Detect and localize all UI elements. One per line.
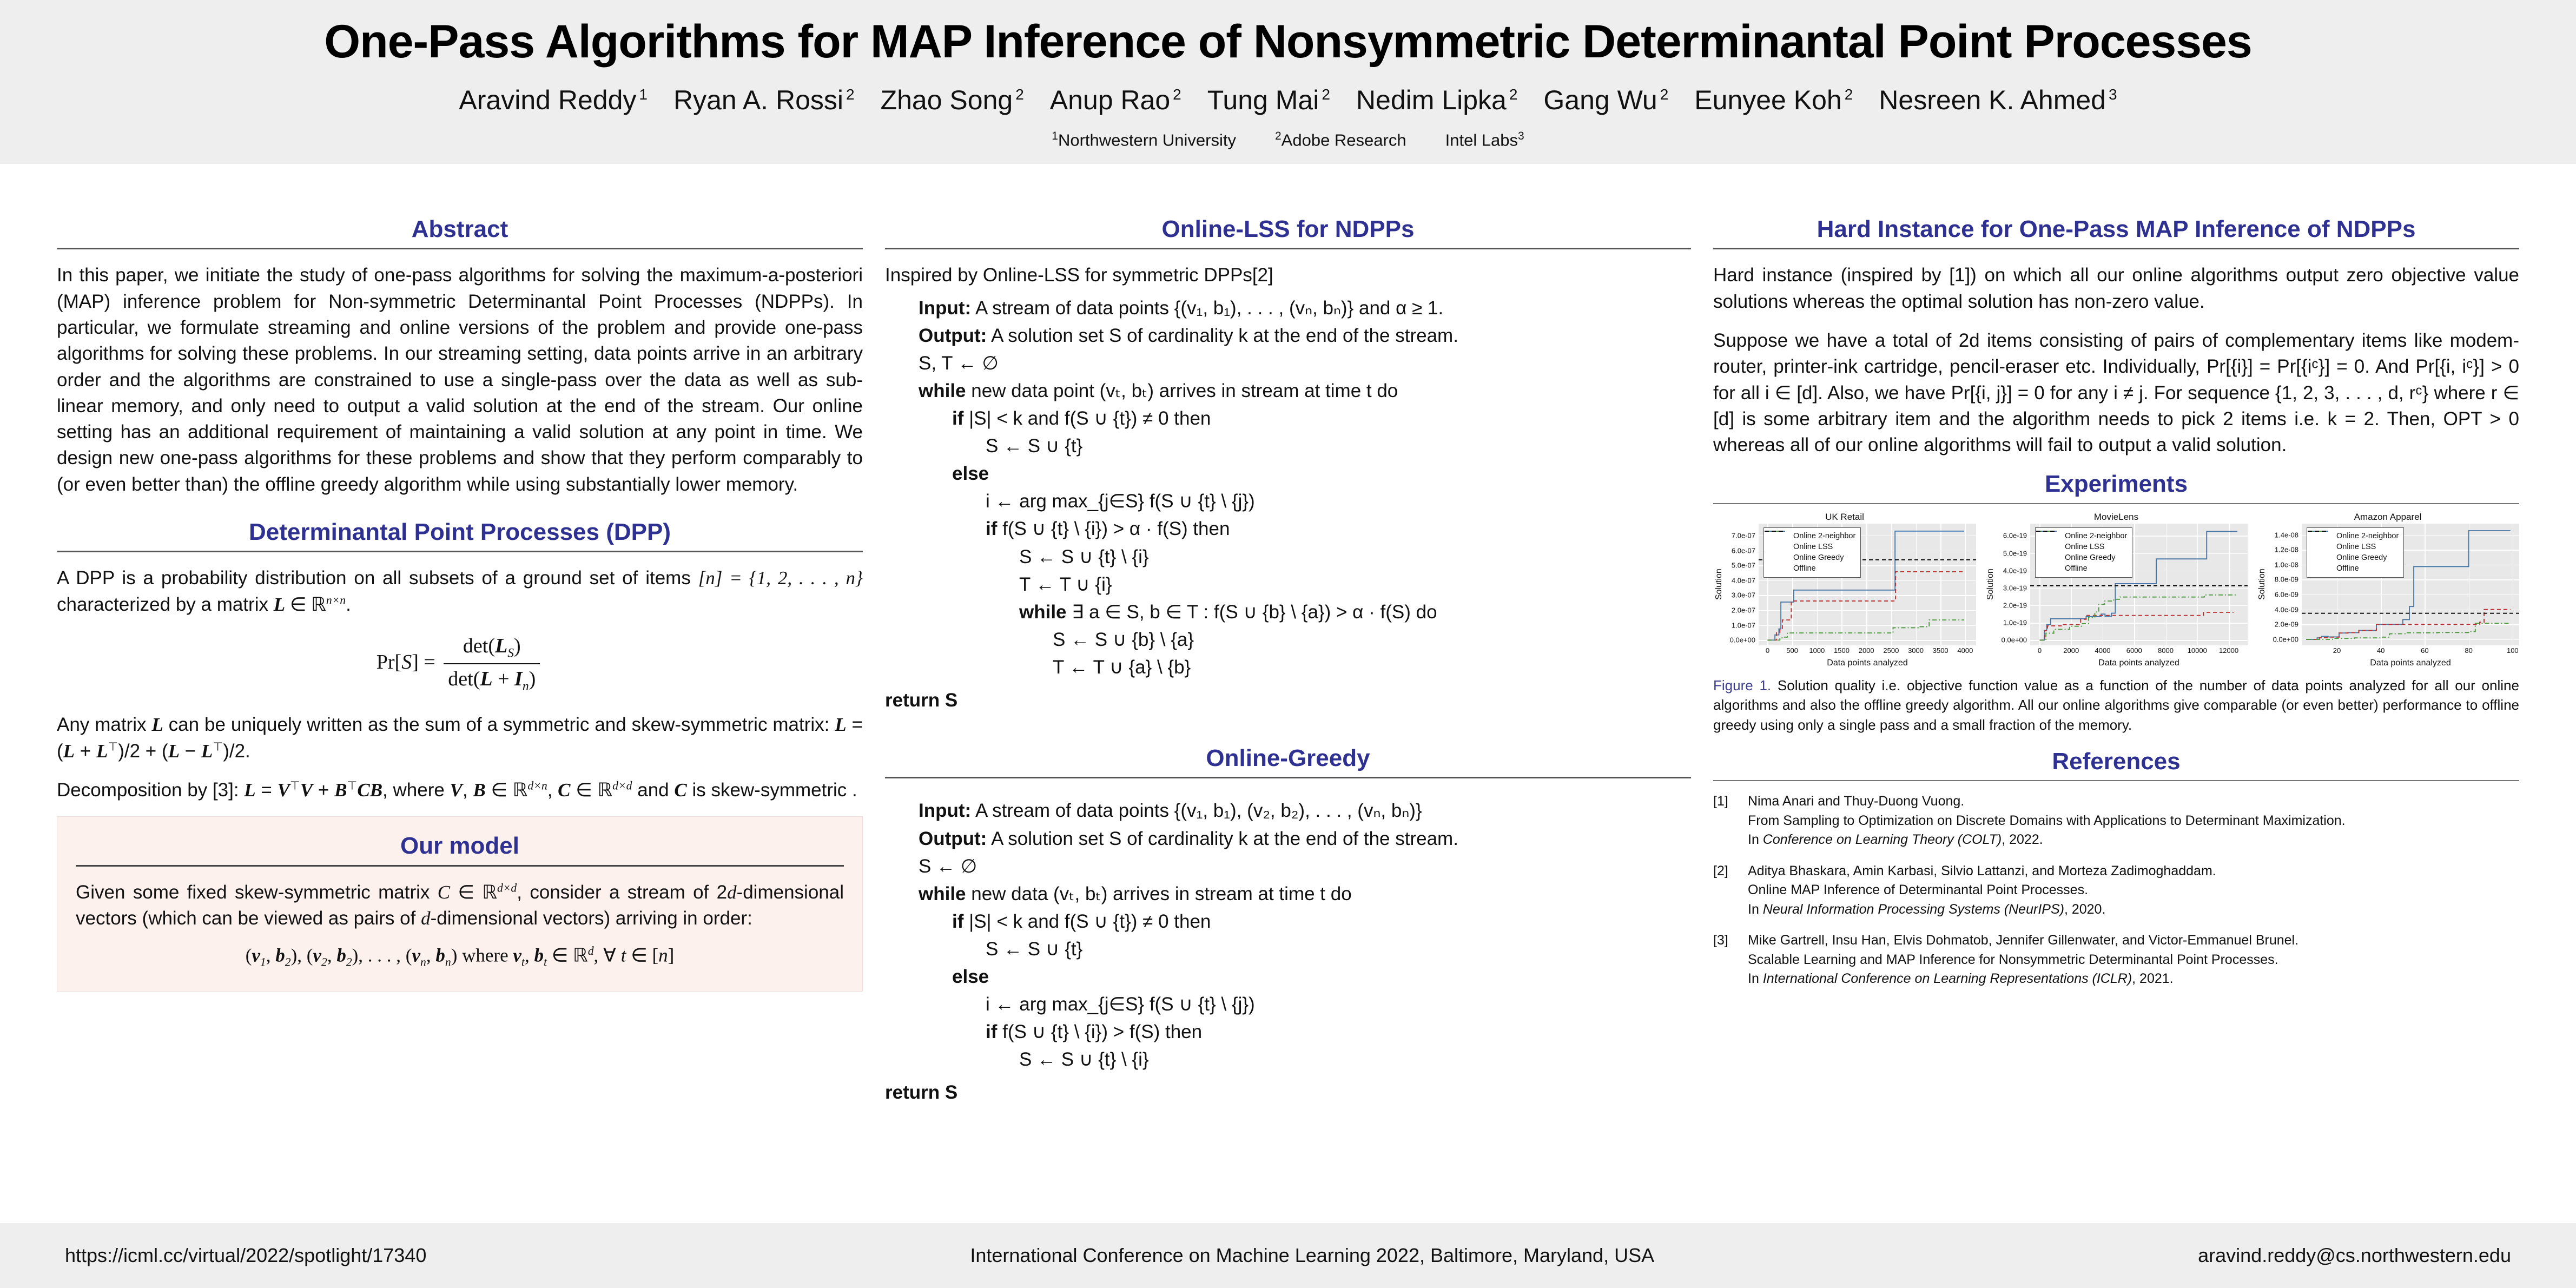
divider <box>1713 248 2519 249</box>
footer-url[interactable]: https://icml.cc/virtual/2022/spotlight/1… <box>65 1244 426 1267</box>
chart-y-tick-label: 4.0e-19 <box>2003 566 2027 574</box>
chart-x-tick-label: 2000 <box>2063 646 2079 655</box>
chart-plot-area: Solution0.0e+001.0e-192.0e-193.0e-194.0e… <box>1985 524 2248 645</box>
chart-y-tick-label: 0.0e+00 <box>2273 635 2298 643</box>
reference-text: Mike Gartrell, Insu Han, Elvis Dohmatob,… <box>1748 931 2519 989</box>
algo-line-10: S ← S ∪ {t} \ {i} <box>885 543 1691 571</box>
chart-x-tick-label: 0 <box>2038 646 2042 655</box>
affiliation-list: 1Northwestern University2Adobe ResearchI… <box>0 130 2576 150</box>
legend-swatch <box>2039 565 2061 572</box>
chart-x-tick-label: 500 <box>1786 646 1798 655</box>
chart-x-axis-label: Data points analyzed <box>1759 658 1976 668</box>
online-greedy-pseudocode: Input: A stream of data points {(v₁, b₁)… <box>885 797 1691 1073</box>
chart-y-tick-label: 4.0e-07 <box>1732 576 1755 584</box>
algo-line-3: S ← ∅ <box>885 853 1691 880</box>
chart-y-tick-label: 1.4e-08 <box>2275 531 2298 539</box>
chart-title: MovieLens <box>1985 512 2248 523</box>
algo-keyword: Input: <box>919 298 971 319</box>
chart-y-tick-label: 3.0e-19 <box>2003 584 2027 592</box>
section-dpp: Determinantal Point Processes (DPP) A DP… <box>57 519 863 803</box>
online-lss-return: return S <box>885 686 1691 714</box>
chart-y-ticks: 0.0e+001.0e-072.0e-073.0e-074.0e-075.0e-… <box>1725 524 1759 645</box>
algo-statement: S, T ← ∅ <box>919 353 999 374</box>
algo-line-9: if f(S ∪ {t} \ {i}) > α · f(S) then <box>885 515 1691 543</box>
figure-caption-text: Solution quality i.e. objective function… <box>1713 677 2519 733</box>
chart-y-tick-label: 4.0e-09 <box>2275 605 2298 613</box>
chart-series-line <box>2039 595 2237 640</box>
chart-x-tick-label: 60 <box>2421 646 2428 655</box>
reference-title: From Sampling to Optimization on Discret… <box>1748 811 2519 831</box>
chart-y-tick-label: 1.2e-08 <box>2275 546 2298 554</box>
abstract-text: In this paper, we initiate the study of … <box>57 262 863 498</box>
chart-x-ticks: 20406080100 <box>2302 645 2519 658</box>
chart-y-tick-label: 7.0e-07 <box>1732 531 1755 539</box>
online-greedy-return-label: return S <box>885 1082 957 1103</box>
chart-x-axis-label: Data points analyzed <box>2302 658 2519 668</box>
chart-y-tick-label: 6.0e-07 <box>1732 546 1755 554</box>
dpp-formula: Pr[S] = det(LS) det(L + In) <box>57 634 863 693</box>
chart-y-axis-label: Solution <box>1985 524 1997 645</box>
algo-line-11: T ← T ∪ {i} <box>885 571 1691 598</box>
section-references: References [1]Nima Anari and Thuy-Duong … <box>1713 749 2519 989</box>
algo-statement: new data point (vₜ, bₜ) arrives in strea… <box>966 380 1398 401</box>
section-online-greedy: Online-Greedy Input: A stream of data po… <box>885 745 1691 1106</box>
dpp-fraction: det(LS) det(L + In) <box>444 634 540 693</box>
reference-title: Scalable Learning and MAP Inference for … <box>1748 950 2519 970</box>
affiliation-3: Intel Labs3 <box>1445 130 1524 150</box>
reference-venue-line: In International Conference on Learning … <box>1748 969 2519 989</box>
chart-title: UK Retail <box>1713 512 1976 523</box>
algo-keyword: if <box>952 911 963 932</box>
reference-venue-line: In Conference on Learning Theory (COLT),… <box>1748 830 2519 850</box>
reference-venue-suffix: , 2022. <box>2002 832 2043 847</box>
reference-item: [3]Mike Gartrell, Insu Han, Elvis Dohmat… <box>1713 931 2519 989</box>
chart-x-tick-label: 100 <box>2507 646 2519 655</box>
model-heading: Our model <box>76 833 844 859</box>
chart-x-tick-label: 20 <box>2333 646 2341 655</box>
section-our-model: Our model Given some fixed skew-symmetri… <box>57 816 863 992</box>
hard-instance-heading: Hard Instance for One-Pass MAP Inference… <box>1713 216 2519 242</box>
chart-y-tick-label: 5.0e-07 <box>1732 562 1755 570</box>
chart-y-axis-label: Solution <box>2256 524 2268 645</box>
experiments-charts: UK RetailSolution0.0e+001.0e-072.0e-073.… <box>1713 512 2519 668</box>
online-lss-return-label: return S <box>885 690 957 711</box>
poster-footer: https://icml.cc/virtual/2022/spotlight/1… <box>0 1223 2576 1288</box>
reference-venue-prefix: In <box>1748 971 1763 986</box>
algo-keyword: Output: <box>919 828 987 849</box>
legend-item: Offline <box>2311 563 2399 574</box>
reference-venue-line: In Neural Information Processing Systems… <box>1748 900 2519 920</box>
reference-venue-prefix: In <box>1748 902 1763 917</box>
author-name: Nesreen K. Ahmed <box>1879 85 2106 115</box>
online-greedy-return: return S <box>885 1079 1691 1106</box>
divider <box>885 248 1691 249</box>
dpp-denominator: det(L + In) <box>444 664 540 694</box>
chart-x-ticks: 020004000600080001000012000 <box>2030 645 2248 658</box>
algo-statement: S ← S ∪ {t} <box>986 939 1082 960</box>
algo-line-13: S ← S ∪ {b} \ {a} <box>885 626 1691 653</box>
algo-keyword: if <box>952 408 963 429</box>
chart-series-line <box>1767 620 1964 640</box>
affiliation-1: 1Northwestern University <box>1052 130 1236 150</box>
reference-item: [2]Aditya Bhaskara, Amin Karbasi, Silvio… <box>1713 862 2519 920</box>
online-lss-pseudocode: Input: A stream of data points {(v₁, b₁)… <box>885 294 1691 681</box>
algo-statement: S ← ∅ <box>919 856 977 877</box>
algo-statement: f(S ∪ {t} \ {i}) > α · f(S) then <box>997 518 1230 539</box>
algo-keyword: Output: <box>919 325 987 346</box>
reference-venue: Neural Information Processing Systems (N… <box>1763 902 2064 917</box>
dpp-ground-set: [n] = {1, 2, . . . , n} <box>698 567 863 589</box>
chart-x-tick-label: 3500 <box>1933 646 1948 655</box>
author-list: Aravind Reddy1Ryan A. Rossi2Zhao Song2An… <box>0 84 2576 116</box>
chart-y-tick-label: 1.0e-07 <box>1732 621 1755 629</box>
reference-number: [2] <box>1713 862 1736 920</box>
author-affiliation-mark: 2 <box>1660 86 1669 103</box>
algo-statement: T ← T ∪ {a} \ {b} <box>1053 657 1191 678</box>
algo-statement: S ← S ∪ {t} \ {i} <box>1019 1049 1149 1070</box>
algo-keyword: while <box>919 883 966 904</box>
chart-y-axis-label: Solution <box>1713 524 1725 645</box>
dpp-para1-a: A DPP is a probability distribution on a… <box>57 567 691 589</box>
author-name: Gang Wu <box>1543 85 1657 115</box>
affiliation-mark: 1 <box>1052 130 1058 142</box>
chart-x-tick-label: 4000 <box>2095 646 2111 655</box>
online-lss-heading: Online-LSS for NDPPs <box>885 216 1691 242</box>
divider <box>57 248 863 249</box>
chart-y-tick-label: 8.0e-09 <box>2275 576 2298 584</box>
author-2: Ryan A. Rossi2 <box>673 84 855 116</box>
algo-line-8: i ← arg max_{j∈S} f(S ∪ {t} \ {j}) <box>885 990 1691 1018</box>
algo-line-7: else <box>885 963 1691 990</box>
author-affiliation-mark: 2 <box>1322 86 1330 103</box>
reference-authors: Mike Gartrell, Insu Han, Elvis Dohmatob,… <box>1748 931 2519 950</box>
author-5: Tung Mai2 <box>1207 84 1330 116</box>
legend-item: Offline <box>2039 563 2127 574</box>
chart-legend: Online 2-neighborOnline LSSOnline Greedy… <box>2307 527 2404 578</box>
chart-y-tick-label: 6.0e-09 <box>2275 590 2298 598</box>
algo-statement: f(S ∪ {t} \ {i}) > f(S) then <box>997 1021 1202 1042</box>
hard-instance-paragraph-2: Suppose we have a total of 2d items cons… <box>1713 328 2519 458</box>
poster-root: One-Pass Algorithms for MAP Inference of… <box>0 0 2576 1288</box>
dpp-para1-b: characterized by a matrix <box>57 594 274 615</box>
algo-line-6: S ← S ∪ {t} <box>885 935 1691 963</box>
reference-venue-suffix: , 2020. <box>2064 902 2105 917</box>
chart-x-tick-label: 10000 <box>2188 646 2207 655</box>
chart-y-tick-label: 3.0e-07 <box>1732 591 1755 599</box>
chart-plot-area: Solution0.0e+001.0e-072.0e-073.0e-074.0e… <box>1713 524 1976 645</box>
algo-keyword: if <box>986 1021 997 1042</box>
dpp-paragraph-1: A DPP is a probability distribution on a… <box>57 565 863 618</box>
algo-line-8: i ← arg max_{j∈S} f(S ∪ {t} \ {j}) <box>885 487 1691 515</box>
reference-authors: Nima Anari and Thuy-Duong Vuong. <box>1748 792 2519 811</box>
algo-line-10: S ← S ∪ {t} \ {i} <box>885 1046 1691 1073</box>
chart-y-tick-label: 2.0e-07 <box>1732 606 1755 614</box>
chart-y-tick-label: 5.0e-19 <box>2003 549 2027 557</box>
chart-x-tick-label: 1000 <box>1809 646 1825 655</box>
reference-title: Online MAP Inference of Determinantal Po… <box>1748 881 2519 900</box>
author-affiliation-mark: 2 <box>1845 86 1853 103</box>
dpp-paragraph-3: Decomposition by [3]: L = V⊤V + B⊤CB, wh… <box>57 777 863 803</box>
author-name: Eunyee Koh <box>1694 85 1841 115</box>
algo-statement: T ← T ∪ {i} <box>1019 574 1112 595</box>
reference-authors: Aditya Bhaskara, Amin Karbasi, Silvio La… <box>1748 862 2519 881</box>
model-paragraph: Given some fixed skew-symmetric matrix C… <box>76 880 844 932</box>
chart-x-tick-label: 40 <box>2377 646 2385 655</box>
chart-series-line <box>2039 612 2233 640</box>
chart-2: MovieLensSolution0.0e+001.0e-192.0e-193.… <box>1985 512 2248 668</box>
column-right: Hard Instance for One-Pass MAP Inference… <box>1713 216 2519 1107</box>
affiliation-name: Intel Labs <box>1445 130 1518 149</box>
author-name: Nedim Lipka <box>1356 85 1507 115</box>
chart-x-tick-label: 3000 <box>1908 646 1924 655</box>
chart-x-axis-label: Data points analyzed <box>2030 658 2248 668</box>
algo-statement: A solution set S of cardinality k at the… <box>987 325 1458 346</box>
chart-plot-area: Solution0.0e+002.0e-094.0e-096.0e-098.0e… <box>2256 524 2519 645</box>
author-4: Anup Rao2 <box>1050 84 1181 116</box>
chart-canvas: Online 2-neighborOnline LSSOnline Greedy… <box>2302 524 2519 645</box>
chart-y-tick-label: 0.0e+00 <box>2002 636 2027 644</box>
chart-x-tick-label: 1500 <box>1834 646 1850 655</box>
affiliation-name: Northwestern University <box>1058 130 1236 149</box>
affiliation-mark: 2 <box>1275 130 1282 142</box>
chart-canvas: Online 2-neighborOnline LSSOnline Greedy… <box>1759 524 1976 645</box>
chart-canvas: Online 2-neighborOnline LSSOnline Greedy… <box>2030 524 2248 645</box>
chart-y-tick-label: 1.0e-08 <box>2275 560 2298 569</box>
chart-y-tick-label: 6.0e-19 <box>2003 532 2027 540</box>
author-9: Nesreen K. Ahmed3 <box>1879 84 2117 116</box>
section-experiments: Experiments UK RetailSolution0.0e+001.0e… <box>1713 471 2519 735</box>
algo-line-5: if |S| < k and f(S ∪ {t}) ≠ 0 then <box>885 405 1691 432</box>
column-left: Abstract In this paper, we initiate the … <box>57 216 863 1107</box>
dpp-heading: Determinantal Point Processes (DPP) <box>57 519 863 545</box>
algo-statement: |S| < k and f(S ∪ {t}) ≠ 0 then <box>963 408 1211 429</box>
poster-header: One-Pass Algorithms for MAP Inference of… <box>0 0 2576 164</box>
figure-caption: Figure 1. Solution quality i.e. objectiv… <box>1713 676 2519 735</box>
algo-statement: S ← S ∪ {t} <box>986 435 1082 457</box>
author-name: Aravind Reddy <box>459 85 636 115</box>
chart-x-ticks: 05001000150020002500300035004000 <box>1759 645 1976 658</box>
algo-statement: i ← arg max_{j∈S} f(S ∪ {t} \ {j}) <box>986 491 1255 512</box>
experiments-heading: Experiments <box>1713 471 2519 497</box>
algo-line-14: T ← T ∪ {a} \ {b} <box>885 653 1691 681</box>
chart-y-tick-label: 0.0e+00 <box>1730 636 1755 644</box>
affiliation-mark: 3 <box>1518 130 1524 142</box>
reference-venue-prefix: In <box>1748 832 1763 847</box>
algo-line-9: if f(S ∪ {t} \ {i}) > f(S) then <box>885 1018 1691 1046</box>
footer-email[interactable]: aravind.reddy@cs.northwestern.edu <box>2198 1244 2511 1267</box>
reference-text: Aditya Bhaskara, Amin Karbasi, Silvio La… <box>1748 862 2519 920</box>
algo-keyword: if <box>986 518 997 539</box>
author-name: Ryan A. Rossi <box>673 85 843 115</box>
algo-statement: S ← S ∪ {b} \ {a} <box>1053 629 1194 650</box>
algo-keyword: while <box>1019 602 1067 623</box>
chart-series-line <box>2306 610 2511 639</box>
author-name: Anup Rao <box>1050 85 1170 115</box>
reference-venue: International Conference on Learning Rep… <box>1763 971 2132 986</box>
footer-conference: International Conference on Machine Lear… <box>970 1244 1654 1267</box>
algo-statement: new data (vₜ, bₜ) arrives in stream at t… <box>966 883 1352 904</box>
legend-item: Offline <box>1768 563 1855 574</box>
algo-line-5: if |S| < k and f(S ∪ {t}) ≠ 0 then <box>885 908 1691 935</box>
algo-statement: i ← arg max_{j∈S} f(S ∪ {t} \ {j}) <box>986 994 1255 1015</box>
author-affiliation-mark: 3 <box>2109 86 2117 103</box>
author-affiliation-mark: 2 <box>1509 86 1518 103</box>
divider <box>57 551 863 552</box>
algo-line-1: Input: A stream of data points {(v₁, b₁)… <box>885 294 1691 322</box>
model-formula: (v1, b2), (v2, b2), . . . , (vn, bn) whe… <box>76 944 844 969</box>
author-1: Aravind Reddy1 <box>459 84 648 116</box>
dpp-matrix-decl: L <box>274 594 285 615</box>
chart-x-tick-label: 2000 <box>1859 646 1874 655</box>
algo-line-3: S, T ← ∅ <box>885 349 1691 377</box>
chart-x-tick-label: 2500 <box>1883 646 1899 655</box>
algo-statement: S ← S ∪ {t} \ {i} <box>1019 546 1149 567</box>
author-affiliation-mark: 2 <box>846 86 855 103</box>
chart-x-tick-label: 8000 <box>2158 646 2174 655</box>
online-lss-inspired: Inspired by Online-LSS for symmetric DPP… <box>885 262 1691 288</box>
algo-line-4: while new data (vₜ, bₜ) arrives in strea… <box>885 880 1691 908</box>
divider <box>1713 503 2519 504</box>
chart-series-line <box>1767 572 1964 640</box>
algo-line-4: while new data point (vₜ, bₜ) arrives in… <box>885 377 1691 405</box>
algo-line-1: Input: A stream of data points {(v₁, b₁)… <box>885 797 1691 824</box>
poster-columns: Abstract In this paper, we initiate the … <box>0 216 2576 1107</box>
chart-y-ticks: 0.0e+002.0e-094.0e-096.0e-098.0e-091.0e-… <box>2268 524 2302 645</box>
figure-label: Figure 1. <box>1713 677 1771 693</box>
legend-swatch <box>1768 565 1789 572</box>
author-8: Eunyee Koh2 <box>1694 84 1853 116</box>
algo-statement: A stream of data points {(v₁, b₁), (v₂, … <box>971 800 1422 821</box>
author-7: Gang Wu2 <box>1543 84 1668 116</box>
chart-x-tick-label: 80 <box>2465 646 2472 655</box>
chart-y-tick-label: 1.0e-19 <box>2003 619 2027 627</box>
author-affiliation-mark: 2 <box>1173 86 1181 103</box>
page-title: One-Pass Algorithms for MAP Inference of… <box>0 18 2576 66</box>
chart-x-tick-label: 6000 <box>2126 646 2142 655</box>
algo-keyword: while <box>919 380 966 401</box>
author-affiliation-mark: 1 <box>639 86 648 103</box>
online-greedy-heading: Online-Greedy <box>885 745 1691 771</box>
column-middle: Online-LSS for NDPPs Inspired by Online-… <box>885 216 1691 1107</box>
chart-y-tick-label: 2.0e-19 <box>2003 601 2027 609</box>
author-name: Tung Mai <box>1207 85 1319 115</box>
chart-1: UK RetailSolution0.0e+001.0e-072.0e-073.… <box>1713 512 1976 668</box>
affiliation-2: 2Adobe Research <box>1275 130 1406 150</box>
algo-statement: |S| < k and f(S ∪ {t}) ≠ 0 then <box>963 911 1211 932</box>
author-6: Nedim Lipka2 <box>1356 84 1517 116</box>
author-affiliation-mark: 2 <box>1015 86 1024 103</box>
algo-line-2: Output: A solution set S of cardinality … <box>885 322 1691 349</box>
abstract-heading: Abstract <box>57 216 863 242</box>
reference-item: [1]Nima Anari and Thuy-Duong Vuong.From … <box>1713 792 2519 850</box>
reference-venue: Conference on Learning Theory (COLT) <box>1763 832 2002 847</box>
reference-number: [1] <box>1713 792 1736 850</box>
reference-venue-suffix: , 2021. <box>2132 971 2173 986</box>
chart-title: Amazon Apparel <box>2256 512 2519 523</box>
legend-swatch <box>2311 565 2333 572</box>
section-abstract: Abstract In this paper, we initiate the … <box>57 216 863 498</box>
hard-instance-paragraph-1: Hard instance (inspired by [1]) on which… <box>1713 262 2519 315</box>
algo-keyword: else <box>952 966 989 987</box>
chart-legend: Online 2-neighborOnline LSSOnline Greedy… <box>2035 527 2132 578</box>
divider <box>1713 780 2519 781</box>
algo-line-12: while ∃ a ∈ S, b ∈ T : f(S ∪ {b} \ {a}) … <box>885 598 1691 626</box>
chart-x-tick-label: 4000 <box>1957 646 1973 655</box>
chart-3: Amazon ApparelSolution0.0e+002.0e-094.0e… <box>2256 512 2519 668</box>
divider <box>76 865 844 867</box>
algo-keyword: Input: <box>919 800 971 821</box>
affiliation-name: Adobe Research <box>1282 130 1406 149</box>
chart-x-tick-label: 12000 <box>2219 646 2238 655</box>
dpp-paragraph-2: Any matrix L can be uniquely written as … <box>57 712 863 764</box>
reference-number: [3] <box>1713 931 1736 989</box>
section-hard-instance: Hard Instance for One-Pass MAP Inference… <box>1713 216 2519 458</box>
references-heading: References <box>1713 749 2519 775</box>
algo-statement: ∃ a ∈ S, b ∈ T : f(S ∪ {b} \ {a}) > α · … <box>1067 602 1437 623</box>
algo-line-7: else <box>885 460 1691 487</box>
author-name: Zhao Song <box>881 85 1013 115</box>
algo-line-6: S ← S ∪ {t} <box>885 432 1691 460</box>
reference-list: [1]Nima Anari and Thuy-Duong Vuong.From … <box>1713 792 2519 989</box>
chart-y-tick-label: 2.0e-09 <box>2275 620 2298 629</box>
divider <box>885 777 1691 778</box>
section-online-lss: Online-LSS for NDPPs Inspired by Online-… <box>885 216 1691 714</box>
reference-text: Nima Anari and Thuy-Duong Vuong.From Sam… <box>1748 792 2519 850</box>
author-3: Zhao Song2 <box>881 84 1024 116</box>
dpp-numerator: det(LS) <box>444 634 540 664</box>
chart-x-tick-label: 0 <box>1766 646 1769 655</box>
algo-keyword: else <box>952 463 989 484</box>
chart-y-ticks: 0.0e+001.0e-192.0e-193.0e-194.0e-195.0e-… <box>1997 524 2030 645</box>
chart-legend: Online 2-neighborOnline LSSOnline Greedy… <box>1763 527 1861 578</box>
algo-statement: A solution set S of cardinality k at the… <box>987 828 1458 849</box>
algo-statement: A stream of data points {(v₁, b₁), . . .… <box>971 298 1443 319</box>
algo-line-2: Output: A solution set S of cardinality … <box>885 825 1691 853</box>
